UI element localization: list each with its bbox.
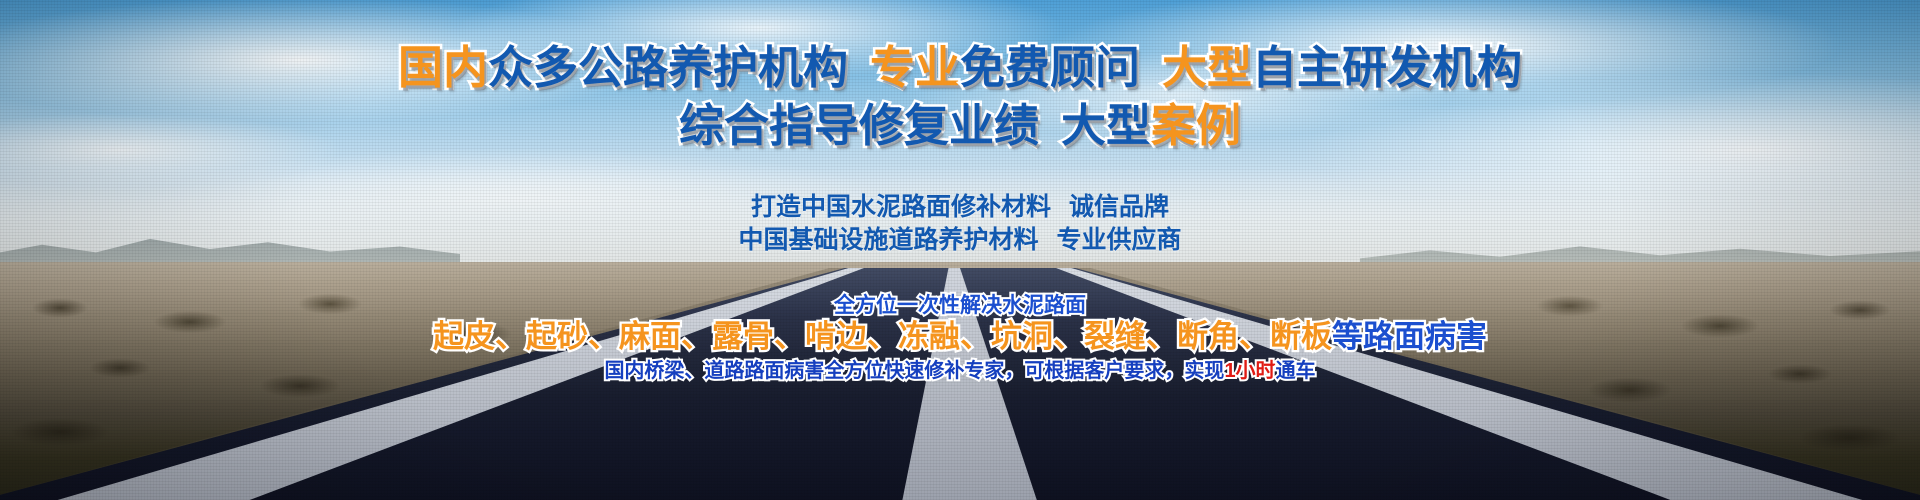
subhead-brand-material: 打造中国水泥路面修补材料: [751, 193, 1051, 221]
promo-banner: 国内众多公路养护机构专业免费顾问大型自主研发机构 综合指导修复业绩大型案例 打造…: [0, 0, 1920, 500]
subhead-line-1: 打造中国水泥路面修补材料诚信品牌: [0, 192, 1920, 222]
footer-one-hour-badge: 1小时: [1224, 359, 1275, 384]
footer-defect-items: 起皮、起砂、麻面、露骨、啃边、冻融、坑洞、裂缝、断角、断板: [433, 318, 1332, 356]
headline-seg-zhuanye: 专业: [870, 41, 960, 95]
banner-content: 国内众多公路养护机构专业免费顾问大型自主研发机构 综合指导修复业绩大型案例 打造…: [0, 0, 1920, 500]
footer-expert-claim: 国内桥梁、道路路面病害全方位快速修补专家，可根据客户要求，实现: [604, 359, 1224, 384]
headline-seg-mianfei: 免费顾问: [960, 41, 1140, 95]
headline-seg-anli: 案例: [1151, 99, 1241, 153]
subhead-line-2: 中国基础设施道路养护材料专业供应商: [0, 225, 1920, 255]
footer-line-2-defect-list: 起皮、起砂、麻面、露骨、啃边、冻融、坑洞、裂缝、断角、断板等路面病害: [0, 318, 1920, 356]
subhead-infra-material: 中国基础设施道路养护材料: [738, 226, 1038, 254]
footer-defect-tail: 等路面病害: [1332, 318, 1487, 356]
footer-open-traffic: 通车: [1276, 359, 1316, 384]
headline-line-1: 国内众多公路养护机构专业免费顾问大型自主研发机构: [0, 41, 1920, 95]
headline-seg-daxing2: 大型: [1061, 99, 1151, 153]
headline-line-2: 综合指导修复业绩大型案例: [0, 99, 1920, 153]
headline-seg-zhongduo: 众多公路养护机构: [488, 41, 848, 95]
headline-seg-zonghe: 综合指导修复业绩: [679, 99, 1039, 153]
headline-seg-daxing: 大型: [1162, 41, 1252, 95]
subhead-supplier: 专业供应商: [1057, 226, 1182, 254]
footer-line-3: 国内桥梁、道路路面病害全方位快速修补专家，可根据客户要求，实现1小时通车: [0, 359, 1920, 384]
headline-seg-guonei: 国内: [398, 41, 488, 95]
subhead-brand-trust: 诚信品牌: [1069, 193, 1169, 221]
footer-solution-text: 全方位一次性解决水泥路面: [834, 293, 1086, 319]
footer-line-1: 全方位一次性解决水泥路面: [0, 293, 1920, 319]
headline-seg-zizhu: 自主研发机构: [1252, 41, 1522, 95]
